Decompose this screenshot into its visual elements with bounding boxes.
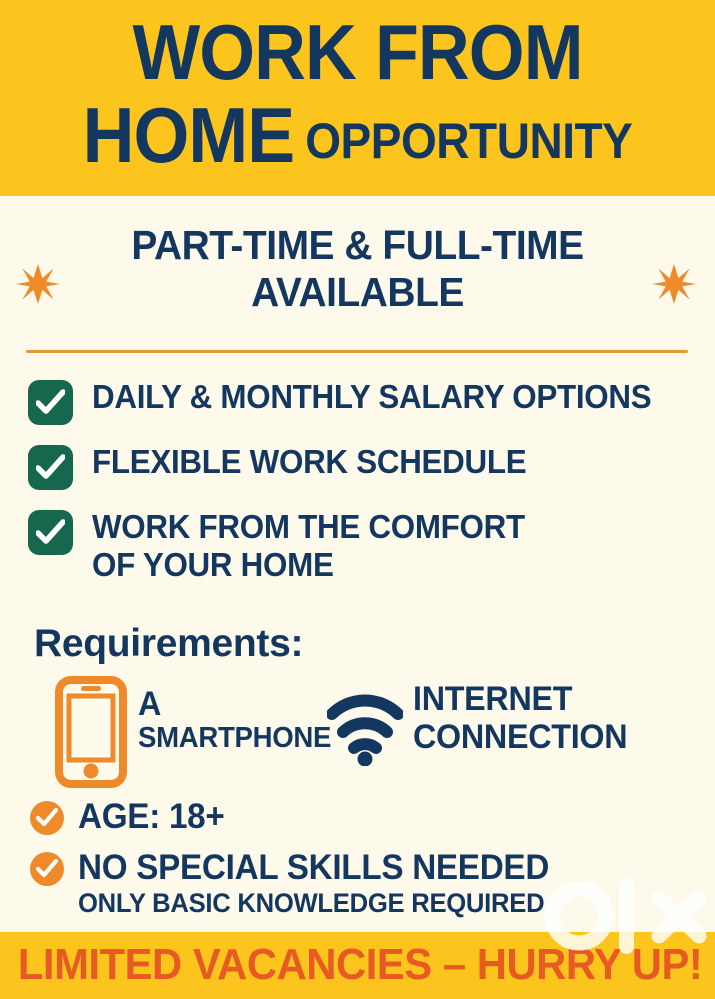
requirements-row: A SMARTPHONE INTERNET CONNECTION <box>55 674 695 792</box>
requirement-checks-list: AGE: 18+ NO SPECIAL SKILLS NEEDED ONLY B… <box>30 797 690 930</box>
header-title-line1: WORK FROM <box>29 10 687 94</box>
requirement-check-item: NO SPECIAL SKILLS NEEDED ONLY BASIC KNOW… <box>30 848 690 919</box>
header-banner: WORK FROM HOMEOPPORTUNITY <box>0 0 715 196</box>
smartphone-label: A SMARTPHONE <box>138 686 331 755</box>
footer-cta-text: LIMITED VACANCIES – HURRY UP! <box>18 940 697 990</box>
check-circle-icon <box>30 852 64 886</box>
header-title-home: HOME <box>83 91 295 179</box>
work-from-home-poster: WORK FROM HOMEOPPORTUNITY PART-TIME & FU… <box>0 0 715 999</box>
starburst-icon-right <box>652 262 696 306</box>
benefits-list: DAILY & MONTHLY SALARY OPTIONS FLEXIBLE … <box>28 378 698 602</box>
section-divider <box>26 350 688 353</box>
requirement-check-label: NO SPECIAL SKILLS NEEDED ONLY BASIC KNOW… <box>78 848 549 919</box>
check-square-icon <box>28 380 73 425</box>
smartphone-icon <box>55 676 127 793</box>
requirement-check-main: NO SPECIAL SKILLS NEEDED <box>78 848 549 888</box>
check-square-icon <box>28 445 73 490</box>
requirement-check-main: AGE: 18+ <box>78 797 224 837</box>
benefit-label: DAILY & MONTHLY SALARY OPTIONS <box>92 378 651 416</box>
requirements-title: Requirements: <box>34 623 303 665</box>
benefit-label: FLEXIBLE WORK SCHEDULE <box>92 443 526 481</box>
header-title-line2: HOMEOPPORTUNITY <box>29 92 687 196</box>
subheading-line2: AVAILABLE <box>18 269 697 316</box>
internet-label-line1: INTERNET <box>413 680 627 718</box>
check-circle-icon <box>30 801 64 835</box>
requirement-check-label: AGE: 18+ <box>78 797 224 837</box>
benefit-item: FLEXIBLE WORK SCHEDULE <box>28 443 698 490</box>
smartphone-label-line2: SMARTPHONE <box>138 722 331 755</box>
starburst-icon-left <box>16 262 60 306</box>
wifi-icon <box>327 692 403 771</box>
benefit-label: WORK FROM THE COMFORT OF YOUR HOME <box>92 508 525 584</box>
subheading-line1: PART-TIME & FULL-TIME <box>18 222 697 269</box>
internet-label: INTERNET CONNECTION <box>413 680 627 756</box>
subheading: PART-TIME & FULL-TIME AVAILABLE <box>18 222 697 316</box>
benefit-item: DAILY & MONTHLY SALARY OPTIONS <box>28 378 698 425</box>
header-title-opportunity: OPPORTUNITY <box>305 113 632 169</box>
smartphone-label-line1: A <box>138 686 331 722</box>
footer-banner: LIMITED VACANCIES – HURRY UP! <box>0 932 715 999</box>
requirement-check-item: AGE: 18+ <box>30 797 690 837</box>
benefit-item: WORK FROM THE COMFORT OF YOUR HOME <box>28 508 698 584</box>
check-square-icon <box>28 510 73 555</box>
internet-label-line2: CONNECTION <box>413 718 627 756</box>
requirement-check-sub: ONLY BASIC KNOWLEDGE REQUIRED <box>78 888 549 919</box>
